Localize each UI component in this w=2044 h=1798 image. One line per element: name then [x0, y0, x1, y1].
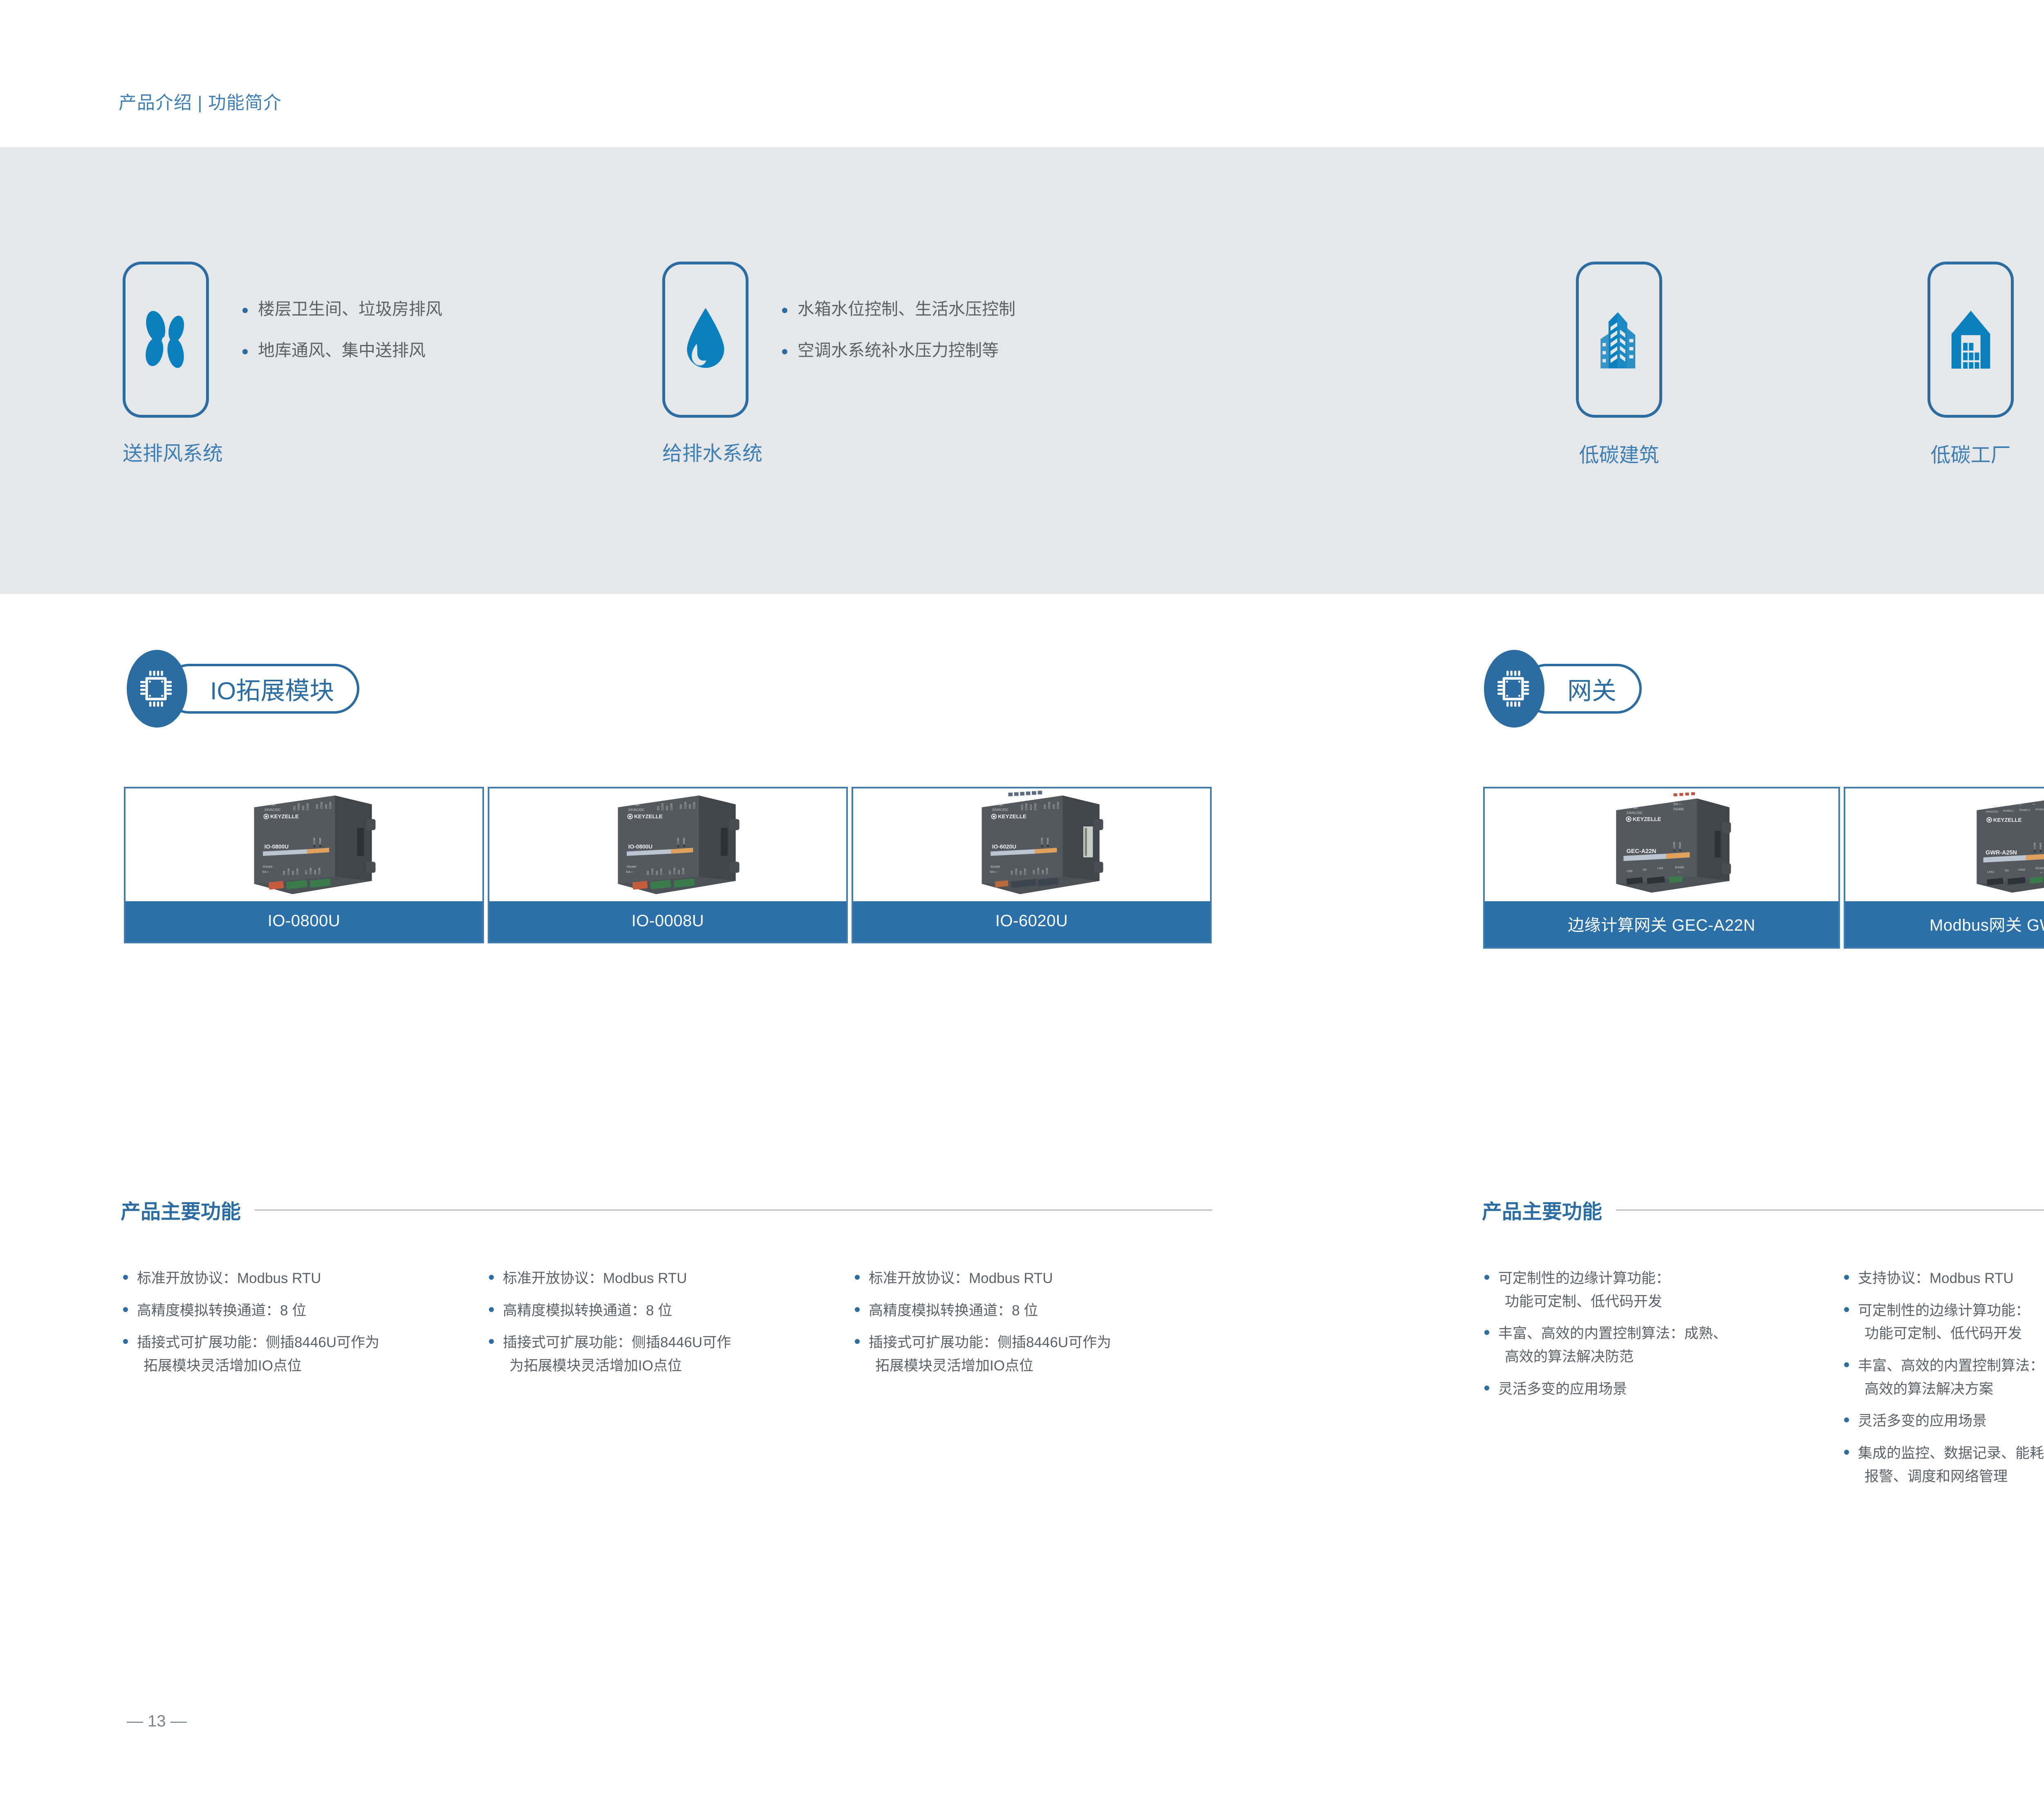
- svg-text:RS485: RS485: [1675, 866, 1684, 869]
- page-number-left: — 13 —: [127, 1712, 187, 1731]
- svg-text:USB: USB: [1626, 869, 1632, 873]
- device-photo-icon: + - NA24VAC/DC DI1 COM DI2 COM DI3 COM D…: [554, 790, 782, 900]
- chip-icon-circle: [1484, 650, 1544, 728]
- svg-text:UI2: UI2: [1051, 804, 1055, 809]
- water-drop-icon: [681, 305, 730, 374]
- svg-text:DI2: DI2: [665, 806, 669, 810]
- svg-text:UI1: UI1: [1043, 804, 1047, 809]
- section-badge-io: IO拓展模块: [127, 650, 359, 728]
- application-caption: 给排水系统: [662, 437, 762, 466]
- office-building-icon-frame: [1576, 262, 1662, 418]
- svg-text:AO1: AO1: [1020, 804, 1024, 810]
- product-image-gwr-a25n: + - NA+ -+ - + -+ - 24VAC/DCRS485-2RS485…: [1845, 788, 2044, 901]
- svg-text:+ - NA: + - NA: [266, 803, 276, 807]
- section-pill-io: IO拓展模块: [164, 664, 359, 714]
- feature-column: 标准开放协议：Modbus RTU 高精度模拟转换通道：8 位 插接式可扩展功能…: [121, 1267, 472, 1387]
- svg-text:COM: COM: [1673, 842, 1676, 849]
- svg-text:24VAC/DC: 24VAC/DC: [992, 808, 1008, 812]
- fan-icon: [135, 307, 197, 372]
- feature-column: 可定制性的边缘计算功能：功能可定制、低代码开发 丰富、高效的内置控制算法：成熟、…: [1482, 1267, 1825, 1410]
- svg-text:NA + -: NA + -: [1673, 802, 1683, 806]
- feature-item: 集成的监控、数据记录、能耗计量、报警、调度和网络管理: [1842, 1442, 2044, 1488]
- svg-text:COM: COM: [682, 868, 685, 874]
- svg-text:COM: COM: [1015, 869, 1018, 875]
- svg-text:COM: COM: [1037, 868, 1040, 874]
- section-label: 网关: [1567, 671, 1616, 707]
- svg-text:COM: COM: [1056, 802, 1060, 809]
- svg-text:PWR: PWR: [319, 837, 322, 844]
- svg-text:GEC-A22N: GEC-A22N: [1626, 848, 1656, 855]
- features-heading-label: 产品主要功能: [121, 1196, 241, 1225]
- feature-text: 高精度模拟转换通道：8 位: [137, 1303, 306, 1319]
- svg-text:COM: COM: [328, 802, 332, 809]
- svg-text:COM: COM: [1046, 868, 1049, 874]
- svg-text:KEYZELLE: KEYZELLE: [1993, 817, 2022, 823]
- feature-item: 标准开放协议：Modbus RTU: [121, 1267, 472, 1290]
- svg-text:+ - NA: + - NA: [1628, 806, 1638, 810]
- svg-text:DI3: DI3: [679, 804, 683, 809]
- features-heading-label: 产品主要功能: [1482, 1196, 1602, 1225]
- feature-item: 插接式可扩展功能：侧插8446U可作为拓展模块灵活增加IO点位: [121, 1331, 472, 1377]
- features-heading-gateway: 产品主要功能: [1482, 1196, 2044, 1225]
- feature-text-continued: 高效的算法解决方案: [1858, 1378, 2044, 1401]
- feature-text: 高精度模拟转换通道：8 位: [503, 1303, 672, 1319]
- svg-text:+ -: + -: [2006, 804, 2010, 807]
- svg-text:+ -: + -: [2040, 871, 2044, 874]
- features-heading-io: 产品主要功能: [121, 1196, 1212, 1225]
- svg-text:RS485: RS485: [1673, 807, 1684, 811]
- svg-text:LAN1: LAN1: [1987, 870, 1994, 873]
- device-photo-icon: + - NA24VAC/DC DI1 COM DI2 COM DI3 COM D…: [190, 790, 419, 900]
- svg-text:COM: COM: [669, 804, 673, 811]
- application-block-water: 水箱水位控制、生活水压控制 空调水系统补水压力控制等 给排水系统: [662, 262, 1015, 418]
- svg-text:LAN2: LAN2: [2018, 868, 2025, 871]
- svg-text:IO-0800U: IO-0800U: [264, 844, 288, 850]
- svg-text:DI1: DI1: [292, 806, 296, 810]
- svg-text:IO-6020U: IO-6020U: [992, 844, 1016, 850]
- svg-text:KEYZELLE: KEYZELLE: [998, 813, 1026, 820]
- svg-text:COM: COM: [305, 804, 309, 811]
- product-card[interactable]: + - NA24VAC/DC NA + -RS485 KEYZELLE GEC-…: [1483, 787, 1840, 949]
- feature-item: 高精度模拟转换通道：8 位: [852, 1299, 1212, 1323]
- water-drop-icon-frame: [662, 262, 749, 418]
- svg-text:DI2: DI2: [301, 806, 305, 810]
- svg-text:RS485-2: RS485-2: [2003, 810, 2014, 813]
- svg-text:COM: COM: [1041, 837, 1044, 844]
- feature-item: 丰富、高效的内置控制算法：成熟、高效的算法解决方案: [1842, 1355, 2044, 1401]
- svg-text:DI8: DI8: [314, 870, 316, 874]
- svg-text:COM: COM: [296, 869, 299, 875]
- product-card[interactable]: + - NA+ -+ - + -+ - 24VAC/DCRS485-2RS485…: [1844, 787, 2044, 949]
- svg-text:SD: SD: [1643, 868, 1647, 871]
- application-bullet: 空调水系统补水压力控制等: [779, 342, 1015, 359]
- svg-text:COM: COM: [1047, 802, 1051, 809]
- svg-text:PWR: PWR: [2039, 843, 2042, 849]
- feature-text: 插接式可扩展功能：侧插8446U可作为: [137, 1335, 379, 1350]
- svg-text:COM: COM: [661, 804, 664, 811]
- feature-text: 丰富、高效的内置控制算法：成熟、: [1498, 1326, 1727, 1341]
- feature-item: 可定制性的边缘计算功能：功能可定制、低代码开发: [1482, 1267, 1825, 1313]
- scenario-block-building: 低碳建筑: [1576, 262, 1662, 468]
- scenario-caption: 低碳工厂: [1927, 439, 2014, 468]
- application-bullet: 水箱水位控制、生活水压控制: [779, 301, 1015, 318]
- feature-text-continued: 拓展模块灵活增加IO点位: [137, 1355, 472, 1378]
- svg-text:DI7: DI7: [305, 870, 308, 874]
- svg-text:DI6: DI6: [291, 871, 294, 875]
- section-badge-gateway: 网关: [1484, 650, 1642, 728]
- product-image-gec-a22n: + - NA24VAC/DC NA + -RS485 KEYZELLE GEC-…: [1485, 788, 1838, 901]
- feature-item: 可定制性的边缘计算功能：功能可定制、低代码开发: [1842, 1299, 2044, 1346]
- svg-text:DI8: DI8: [677, 870, 680, 874]
- svg-text:AO2: AO2: [1029, 804, 1033, 810]
- feature-item: 插接式可扩展功能：侧插8446U可作为拓展模块灵活增加IO点位: [852, 1331, 1212, 1377]
- svg-text:RS485: RS485: [991, 865, 1000, 869]
- chip-icon: [140, 669, 174, 708]
- product-card[interactable]: + - NA24VAC/DC AO1 COM AO2 COM UI1 COM U…: [852, 787, 1212, 943]
- svg-text:KEYZELLE: KEYZELLE: [270, 813, 299, 820]
- fan-icon-frame: [123, 262, 209, 418]
- feature-text: 支持协议：Modbus RTU: [1858, 1270, 2014, 1286]
- feature-text-continued: 高效的算法解决防范: [1498, 1346, 1825, 1369]
- application-bullets-water: 水箱水位控制、生活水压控制 空调水系统补水压力控制等: [779, 262, 1015, 383]
- svg-text:24VAC/DC: 24VAC/DC: [1986, 811, 1998, 813]
- svg-text:24VAC/DC: 24VAC/DC: [264, 808, 280, 812]
- svg-text:UI6: UI6: [1041, 870, 1044, 874]
- svg-text:DI3: DI3: [315, 804, 319, 809]
- features-heading-rule: [255, 1209, 1212, 1211]
- feature-item: 高精度模拟转换通道：8 位: [121, 1299, 472, 1323]
- feature-text: 灵活多变的应用场景: [1858, 1413, 1987, 1429]
- application-bullet: 楼层卫生间、垃圾房排风: [239, 301, 442, 318]
- scenario-caption: 低碳建筑: [1576, 439, 1662, 468]
- product-image-io-6020u: + - NA24VAC/DC AO1 COM AO2 COM UI1 COM U…: [853, 788, 1210, 901]
- chip-icon: [1497, 669, 1531, 708]
- svg-text:DI4: DI4: [324, 804, 327, 809]
- feature-text: 可定制性的边缘计算功能：: [1498, 1270, 1670, 1286]
- svg-text:COM: COM: [692, 802, 696, 809]
- svg-text:RS485: RS485: [263, 865, 272, 869]
- feature-item: 插接式可扩展功能：侧插8446U可作为拓展模块灵活增加IO点位: [486, 1331, 838, 1377]
- svg-text:LAN: LAN: [1657, 866, 1663, 870]
- svg-text:COM: COM: [313, 837, 316, 844]
- feature-item: 灵活多变的应用场景: [1842, 1410, 2044, 1433]
- product-card[interactable]: + - NA24VAC/DC DI1 COM DI2 COM DI3 COM D…: [124, 787, 484, 943]
- product-caption: IO-0008U: [489, 901, 846, 942]
- device-photo-icon: + - NA24VAC/DC NA + -RS485 KEYZELLE GEC-…: [1551, 790, 1772, 900]
- factory-icon-frame: [1927, 262, 2014, 418]
- svg-text:RS485-4: RS485-4: [2035, 808, 2044, 811]
- feature-text-continued: 功能可定制、低代码开发: [1498, 1290, 1825, 1314]
- device-photo-icon: + - NA24VAC/DC AO1 COM AO2 COM UI1 COM U…: [917, 790, 1146, 900]
- feature-column: 标准开放协议：Modbus RTU 高精度模拟转换通道：8 位 插接式可扩展功能…: [486, 1267, 838, 1387]
- office-building-icon: [1592, 303, 1646, 376]
- product-card[interactable]: + - NA24VAC/DC DI1 COM DI2 COM DI3 COM D…: [488, 787, 848, 943]
- feature-text-continued: 拓展模块灵活增加IO点位: [869, 1355, 1212, 1378]
- product-caption: Modbus网关 GWR-A25N: [1845, 901, 2044, 947]
- feature-text: 可定制性的边缘计算功能：: [1858, 1303, 2030, 1319]
- feature-item: 灵活多变的应用场景: [1482, 1378, 1825, 1401]
- feature-text-continued: 报警、调度和网络管理: [1858, 1465, 2044, 1489]
- feature-text: 灵活多变的应用场景: [1498, 1381, 1627, 1397]
- svg-text:+ - NA: + - NA: [993, 803, 1003, 807]
- svg-text:DI6: DI6: [655, 871, 658, 875]
- spread-page: 产品介绍 | 功能简介 产品介绍 | 功能简介 楼层卫生间、垃圾房排风 地库通风…: [0, 0, 2044, 1798]
- svg-text:GWR-A25N: GWR-A25N: [1986, 849, 2017, 856]
- feature-item: 丰富、高效的内置控制算法：成熟、高效的算法解决防范: [1482, 1322, 1825, 1368]
- svg-text:COM: COM: [320, 802, 323, 809]
- feature-item: 支持协议：Modbus RTU: [1842, 1267, 2044, 1290]
- feature-text: 高精度模拟转换通道：8 位: [869, 1303, 1038, 1319]
- svg-text:RS485-3: RS485-3: [2019, 809, 2030, 812]
- running-head-left: 产品介绍 | 功能简介: [119, 88, 282, 114]
- application-bullets-fan: 楼层卫生间、垃圾房排风 地库通风、集中送排风: [239, 262, 442, 383]
- svg-text:DI4: DI4: [688, 804, 691, 809]
- feature-text: 插接式可扩展功能：侧插8446U可作为: [869, 1335, 1111, 1350]
- product-caption: 边缘计算网关 GEC-A22N: [1485, 901, 1838, 947]
- svg-text:COM: COM: [287, 869, 290, 875]
- section-label: IO拓展模块: [210, 671, 334, 707]
- scenario-block-factory: 低碳工厂: [1927, 262, 2014, 468]
- svg-text:UI4: UI4: [1019, 871, 1022, 875]
- svg-text:PWR: PWR: [1047, 837, 1049, 844]
- feature-column: 支持协议：Modbus RTU 可定制性的边缘计算功能：功能可定制、低代码开发 …: [1842, 1267, 2044, 1498]
- feature-item: 标准开放协议：Modbus RTU: [852, 1267, 1212, 1290]
- svg-text:PWR: PWR: [1679, 842, 1681, 849]
- svg-text:UI5: UI5: [1033, 870, 1035, 874]
- svg-text:NA + -: NA + -: [626, 870, 635, 873]
- feature-column: 标准开放协议：Modbus RTU 高精度模拟转换通道：8 位 插接式可扩展功能…: [852, 1267, 1212, 1387]
- svg-text:+ -: + -: [2019, 803, 2023, 807]
- feature-text: 集成的监控、数据记录、能耗计量、: [1858, 1445, 2044, 1461]
- svg-text:COM: COM: [318, 868, 321, 874]
- feature-item: 高精度模拟转换通道：8 位: [486, 1299, 838, 1323]
- factory-icon: [1945, 304, 1997, 376]
- svg-text:+ -: + -: [2033, 802, 2036, 806]
- svg-text:COM: COM: [1024, 869, 1026, 875]
- svg-text:DI5: DI5: [283, 871, 286, 875]
- product-caption: IO-6020U: [853, 901, 1210, 942]
- svg-text:DI7: DI7: [669, 870, 672, 874]
- feature-text-continued: 为拓展模块灵活增加IO点位: [503, 1355, 838, 1378]
- svg-text:COM: COM: [677, 837, 680, 844]
- svg-text:DI1: DI1: [656, 806, 660, 810]
- feature-text: 插接式可扩展功能：侧插8446U可作: [503, 1335, 731, 1350]
- svg-text:RS485: RS485: [627, 865, 636, 869]
- svg-text:NA + -: NA + -: [262, 870, 271, 873]
- feature-text: 标准开放协议：Modbus RTU: [869, 1270, 1053, 1286]
- svg-text:+ - NA: + - NA: [630, 803, 639, 807]
- application-block-fan: 楼层卫生间、垃圾房排风 地库通风、集中送排风 送排风系统: [123, 262, 442, 418]
- svg-text:NA + -: NA + -: [990, 870, 999, 873]
- product-image-io-0008u: + - NA24VAC/DC DI1 COM DI2 COM DI3 COM D…: [489, 788, 846, 901]
- svg-text:DI5: DI5: [647, 871, 650, 875]
- svg-text:PWR: PWR: [683, 837, 686, 844]
- product-caption: IO-0800U: [126, 901, 482, 942]
- feature-item: 标准开放协议：Modbus RTU: [486, 1267, 838, 1290]
- feature-text: 丰富、高效的内置控制算法：成熟、: [1858, 1358, 2044, 1374]
- svg-text:SD: SD: [2004, 869, 2008, 872]
- device-photo-icon: + - NA+ -+ - + -+ - 24VAC/DCRS485-2RS485…: [1912, 790, 2044, 900]
- svg-text:COM: COM: [684, 802, 687, 809]
- svg-text:COM: COM: [297, 804, 300, 811]
- svg-text:KEYZELLE: KEYZELLE: [1632, 816, 1661, 822]
- svg-text:COM: COM: [1024, 804, 1028, 811]
- svg-text:COM: COM: [309, 868, 312, 874]
- product-image-io-0800u: + - NA24VAC/DC DI1 COM DI2 COM DI3 COM D…: [126, 788, 482, 901]
- svg-text:+ -: + -: [1678, 870, 1681, 873]
- svg-text:COM: COM: [660, 869, 663, 875]
- svg-text:UI3: UI3: [1011, 871, 1013, 875]
- feature-text: 标准开放协议：Modbus RTU: [137, 1270, 321, 1286]
- application-caption: 送排风系统: [123, 437, 223, 466]
- svg-text:COM: COM: [673, 868, 676, 874]
- svg-text:+ - NA: + - NA: [1988, 804, 1997, 808]
- svg-text:24VAC/DC: 24VAC/DC: [1626, 811, 1643, 815]
- feature-text: 标准开放协议：Modbus RTU: [503, 1270, 687, 1286]
- svg-text:RS485-1: RS485-1: [2035, 866, 2044, 870]
- application-bullet: 地库通风、集中送排风: [239, 342, 442, 359]
- svg-text:24VAC/DC: 24VAC/DC: [628, 808, 644, 812]
- svg-text:COM: COM: [1033, 804, 1037, 811]
- chip-icon-circle: [127, 650, 187, 728]
- svg-text:COM: COM: [2033, 843, 2036, 849]
- svg-text:KEYZELLE: KEYZELLE: [634, 813, 663, 820]
- svg-text:IO-0800U: IO-0800U: [628, 844, 652, 850]
- svg-text:COM: COM: [651, 869, 654, 875]
- features-heading-rule: [1616, 1209, 2044, 1211]
- feature-text-continued: 功能可定制、低代码开发: [1858, 1322, 2044, 1346]
